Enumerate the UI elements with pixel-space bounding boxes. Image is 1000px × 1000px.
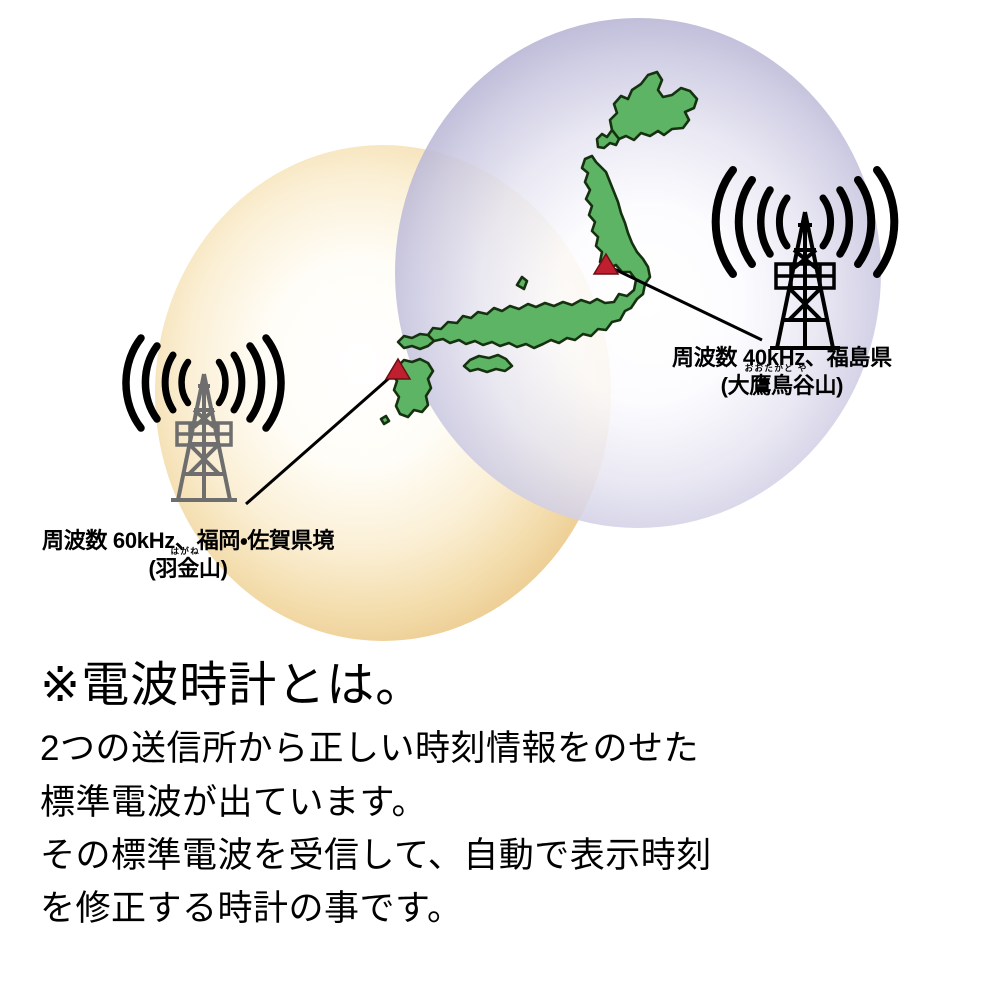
callout-left-place: (羽金山): [148, 556, 227, 581]
south-islet: [381, 416, 389, 424]
callout-left-line2-wrap: はがね (羽金山): [148, 556, 227, 582]
callout-right-ruby: おおたかど や: [745, 364, 808, 373]
callout-40khz-fukushima: 周波数 40kHz、福島県 おおたかど や (大鷹鳥谷山): [672, 345, 892, 399]
body-line-1: 2つの送信所から正しい時刻情報をのせた: [40, 722, 970, 775]
callout-left-ruby: はがね: [170, 547, 200, 556]
body-line-2: 標準電波が出ています。: [40, 776, 970, 829]
section-heading: ※電波時計とは。: [40, 655, 970, 716]
description-text-block: ※電波時計とは。 2つの送信所から正しい時刻情報をのせた 標準電波が出ています。…: [40, 655, 970, 935]
body-line-3: その標準電波を受信して、自動で表示時刻: [40, 829, 970, 882]
callout-60khz-fukuoka-saga: 周波数 60kHz、福岡・佐賀県境 はがね (羽金山): [42, 528, 334, 582]
body-line-4: を修正する時計の事です。: [40, 882, 970, 935]
callout-right-place: (大鷹鳥谷山): [721, 373, 844, 398]
chugoku-shape: [398, 334, 434, 349]
callout-right-line2-wrap: おおたかど や (大鷹鳥谷山): [721, 373, 844, 399]
